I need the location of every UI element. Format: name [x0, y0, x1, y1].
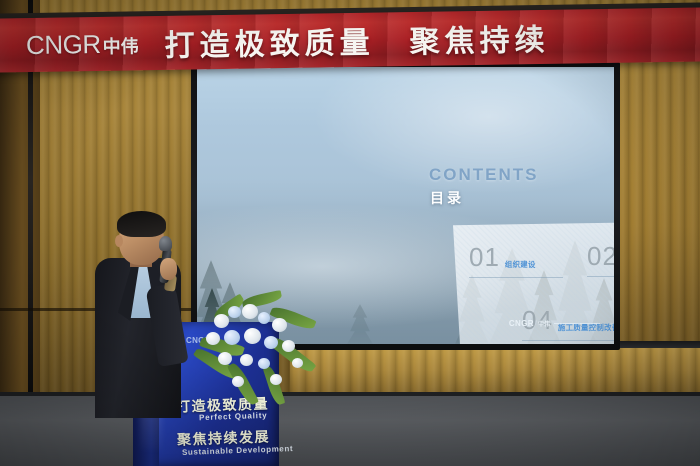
banner-logo-english: CNGR	[26, 28, 101, 60]
speaker-ear	[115, 235, 123, 247]
banner-slogan: 打造极致质量 聚焦持续	[164, 15, 550, 65]
blue-flower	[258, 312, 270, 324]
toc-number: 02	[587, 243, 614, 269]
flower-arrangement	[196, 296, 316, 414]
slide-heading-chinese: 目录	[430, 188, 464, 208]
blue-flower	[224, 330, 240, 345]
toc-item-02[interactable]: 02 设计质量控制改善	[587, 243, 614, 277]
slide-cngr-logo: CNGR 中伟	[509, 319, 600, 328]
toc-underline	[469, 277, 563, 278]
toc-underline	[587, 276, 614, 277]
slide-logo-rule	[554, 323, 600, 324]
wood-cabinet	[290, 348, 700, 398]
blue-flower	[228, 306, 241, 318]
white-flower	[270, 374, 282, 385]
slide-heading-english: CONTENTS	[429, 165, 539, 185]
toc-underline	[522, 340, 614, 341]
toc-item-01[interactable]: 01 组织建设	[469, 244, 563, 278]
speaker-hand	[160, 258, 177, 280]
white-flower	[272, 318, 287, 332]
slide-logo-chinese: 中伟	[538, 319, 550, 328]
white-flower	[214, 314, 229, 328]
foliage-leaf	[263, 365, 286, 406]
white-flower	[232, 376, 244, 387]
slide-logo-english: CNGR	[509, 319, 534, 328]
white-flower	[242, 304, 258, 319]
banner-logo-chinese: 中伟	[102, 32, 138, 59]
event-banner: CNGR 中伟 打造极致质量 聚焦持续	[0, 7, 700, 72]
white-flower	[240, 354, 253, 366]
microphone-head-icon	[159, 236, 172, 251]
white-flower	[218, 352, 232, 365]
white-flower	[292, 358, 303, 368]
white-flower	[282, 340, 295, 352]
blue-flower	[258, 358, 270, 369]
white-flower	[244, 328, 261, 344]
speaker-hair	[117, 211, 166, 237]
presentation-scene: CONTENTS 目录 01 组织建设 02 设计质量控制改善 03 采购质量控…	[0, 0, 700, 466]
toc-number: 01	[469, 244, 500, 270]
white-flower	[206, 332, 220, 345]
banner-cngr-logo: CNGR 中伟	[26, 28, 139, 61]
toc-label: 组织建设	[505, 259, 536, 270]
blue-flower	[264, 336, 278, 349]
